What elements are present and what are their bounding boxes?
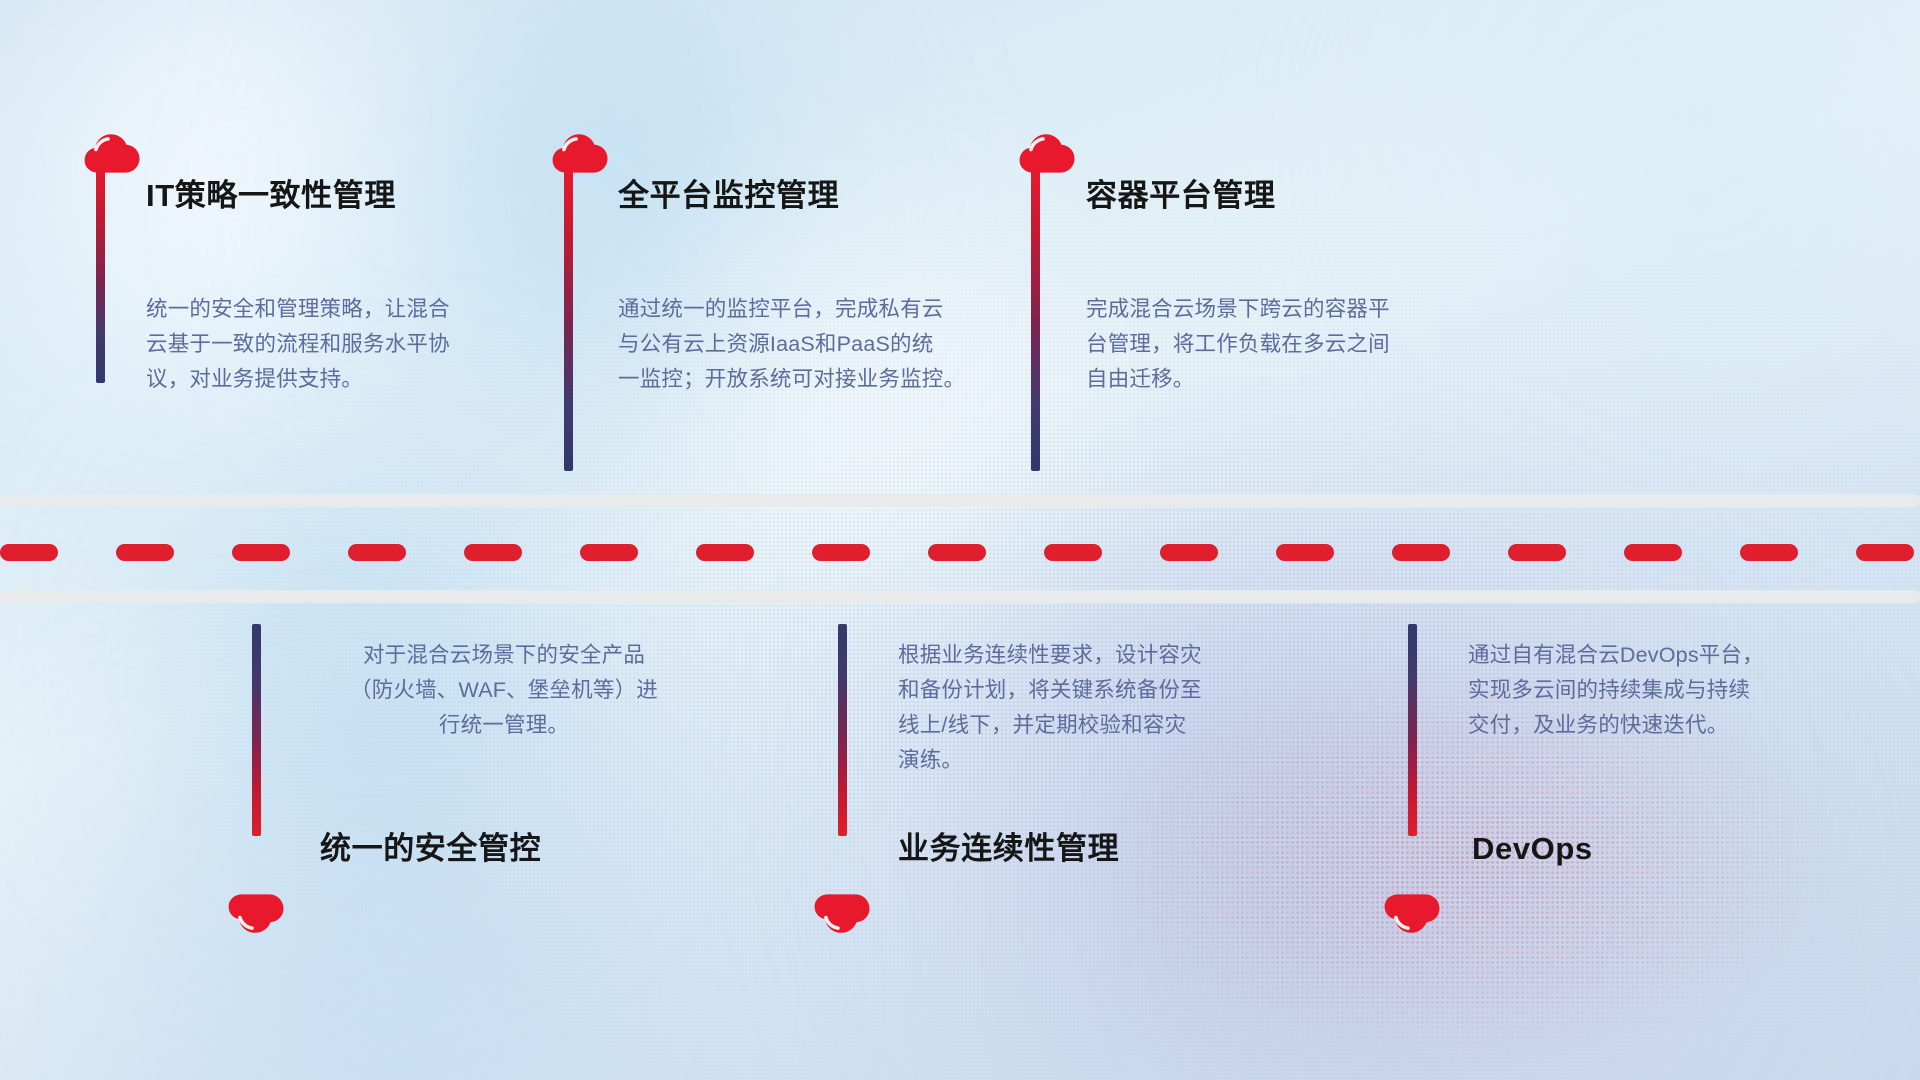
road-dash [1624, 544, 1682, 561]
marker-body: 通过统一的监控平台，完成私有云 与公有云上资源IaaS和PaaS的统 一监控；开… [618, 292, 1008, 397]
road-dash [0, 544, 58, 561]
marker-title: IT策略一致性管理 [146, 180, 396, 211]
timeline-bar [96, 168, 105, 383]
road-dash [116, 544, 174, 561]
marker-body: 完成混合云场景下跨云的容器平 台管理，将工作负载在多云之间 自由迁移。 [1086, 292, 1456, 397]
road-dash [464, 544, 522, 561]
marker-title: 容器平台管理 [1086, 180, 1276, 211]
road-dash [1740, 544, 1798, 561]
cloud-icon [814, 894, 870, 934]
road-dash [1392, 544, 1450, 561]
road-dashed-centerline [0, 543, 1920, 561]
road-line-top [0, 494, 1920, 507]
marker-body: 根据业务连续性要求，设计容灾 和备份计划，将关键系统备份至 线上/线下，并定期校… [898, 638, 1278, 778]
timeline-bar [1408, 624, 1417, 836]
marker-body: 通过自有混合云DevOps平台， 实现多云间的持续集成与持续 交付，及业务的快速… [1468, 638, 1848, 743]
background-dot-texture-red [0, 0, 1920, 1080]
cloud-icon [552, 133, 608, 173]
road-dash [1276, 544, 1334, 561]
cloud-icon [228, 894, 284, 934]
cloud-icon [1019, 133, 1075, 173]
marker-body: 统一的安全和管理策略，让混合 云基于一致的流程和服务水平协 议，对业务提供支持。 [146, 292, 516, 397]
cloud-icon [84, 133, 140, 173]
road-dash [696, 544, 754, 561]
timeline-bar [1031, 168, 1040, 471]
road-dash [348, 544, 406, 561]
timeline-bar [564, 168, 573, 471]
road-line-bottom [0, 590, 1920, 603]
road-dash [1160, 544, 1218, 561]
marker-title: 全平台监控管理 [618, 180, 839, 211]
road-dash [928, 544, 986, 561]
marker-title: DevOps [1472, 833, 1593, 864]
road-dash [232, 544, 290, 561]
timeline-bar [838, 624, 847, 836]
road-dash [1856, 544, 1914, 561]
marker-title: 业务连续性管理 [898, 833, 1119, 864]
road-dash [1044, 544, 1102, 561]
infographic-canvas: IT策略一致性管理 统一的安全和管理策略，让混合 云基于一致的流程和服务水平协 … [0, 0, 1920, 1080]
cloud-icon [1384, 894, 1440, 934]
marker-title: 统一的安全管控 [320, 833, 541, 864]
road-dash [812, 544, 870, 561]
road-dash [580, 544, 638, 561]
marker-body: 对于混合云场景下的安全产品 （防火墙、WAF、堡垒机等）进 行统一管理。 [314, 638, 694, 743]
road-dash [1508, 544, 1566, 561]
timeline-bar [252, 624, 261, 836]
